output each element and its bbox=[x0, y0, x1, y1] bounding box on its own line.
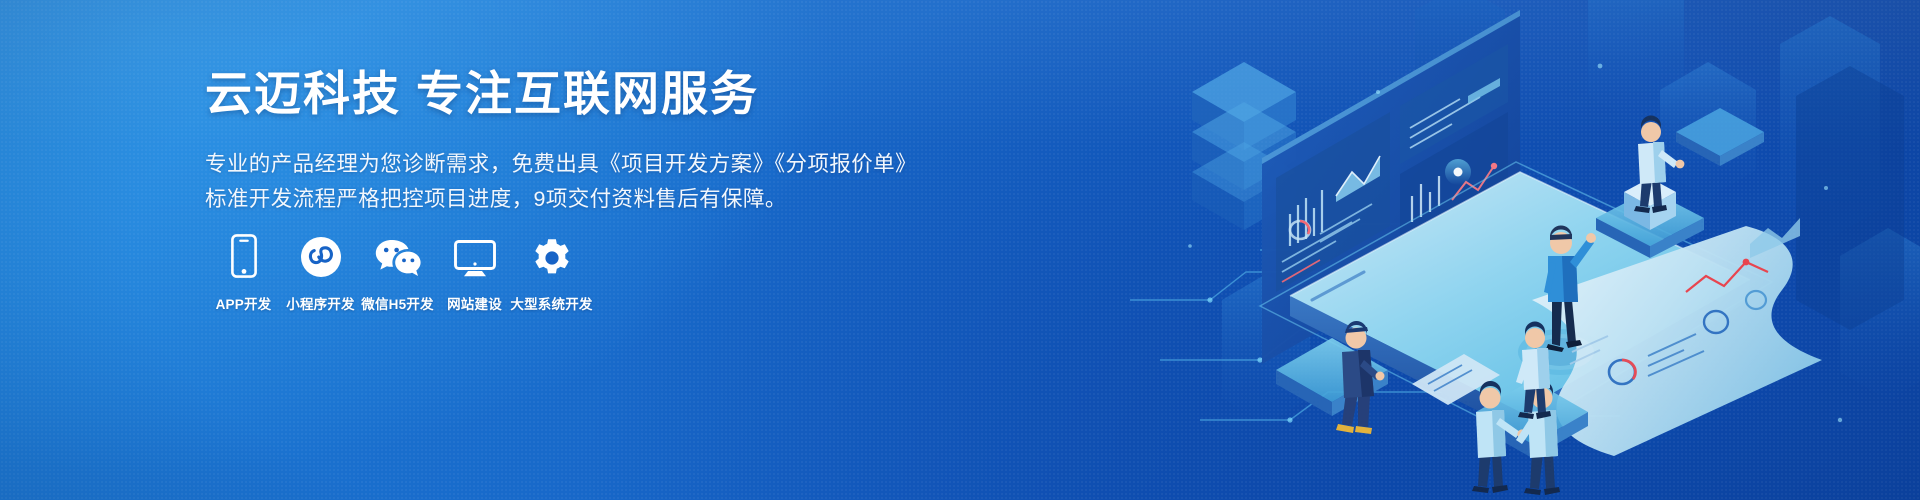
service-label-app: APP开发 bbox=[216, 293, 272, 313]
mini-program-icon bbox=[300, 232, 342, 278]
service-item-website[interactable]: 网站建设 bbox=[436, 232, 513, 313]
service-label-mini-program: 小程序开发 bbox=[286, 293, 355, 313]
service-list: APP开发 小程序开发 bbox=[205, 232, 590, 313]
promo-banner: 云迈科技 专注互联网服务 专业的产品经理为您诊断需求，免费出具《项目开发方案》《… bbox=[0, 0, 1920, 500]
service-label-website: 网站建设 bbox=[447, 293, 502, 313]
subtitle-line-1: 专业的产品经理为您诊断需求，免费出具《项目开发方案》《分项报价单》 bbox=[205, 147, 905, 182]
gear-icon bbox=[532, 232, 572, 278]
service-label-wechat-h5: 微信H5开发 bbox=[361, 293, 433, 313]
service-item-wechat-h5[interactable]: 微信H5开发 bbox=[359, 232, 436, 313]
service-item-large-system[interactable]: 大型系统开发 bbox=[513, 232, 590, 313]
subtitle-line-2: 标准开发流程严格把控项目进度，9项交付资料售后有保障。 bbox=[205, 182, 905, 217]
banner-text-block: 云迈科技 专注互联网服务 专业的产品经理为您诊断需求，免费出具《项目开发方案》《… bbox=[205, 66, 905, 217]
mobile-phone-icon bbox=[231, 232, 257, 278]
monitor-icon bbox=[454, 232, 496, 278]
isometric-tech-illustration bbox=[960, 0, 1920, 500]
service-item-mini-program[interactable]: 小程序开发 bbox=[282, 232, 359, 313]
wechat-icon bbox=[375, 232, 421, 278]
service-label-large-system: 大型系统开发 bbox=[510, 293, 592, 313]
service-item-app[interactable]: APP开发 bbox=[205, 232, 282, 313]
page-title: 云迈科技 专注互联网服务 bbox=[205, 66, 905, 121]
